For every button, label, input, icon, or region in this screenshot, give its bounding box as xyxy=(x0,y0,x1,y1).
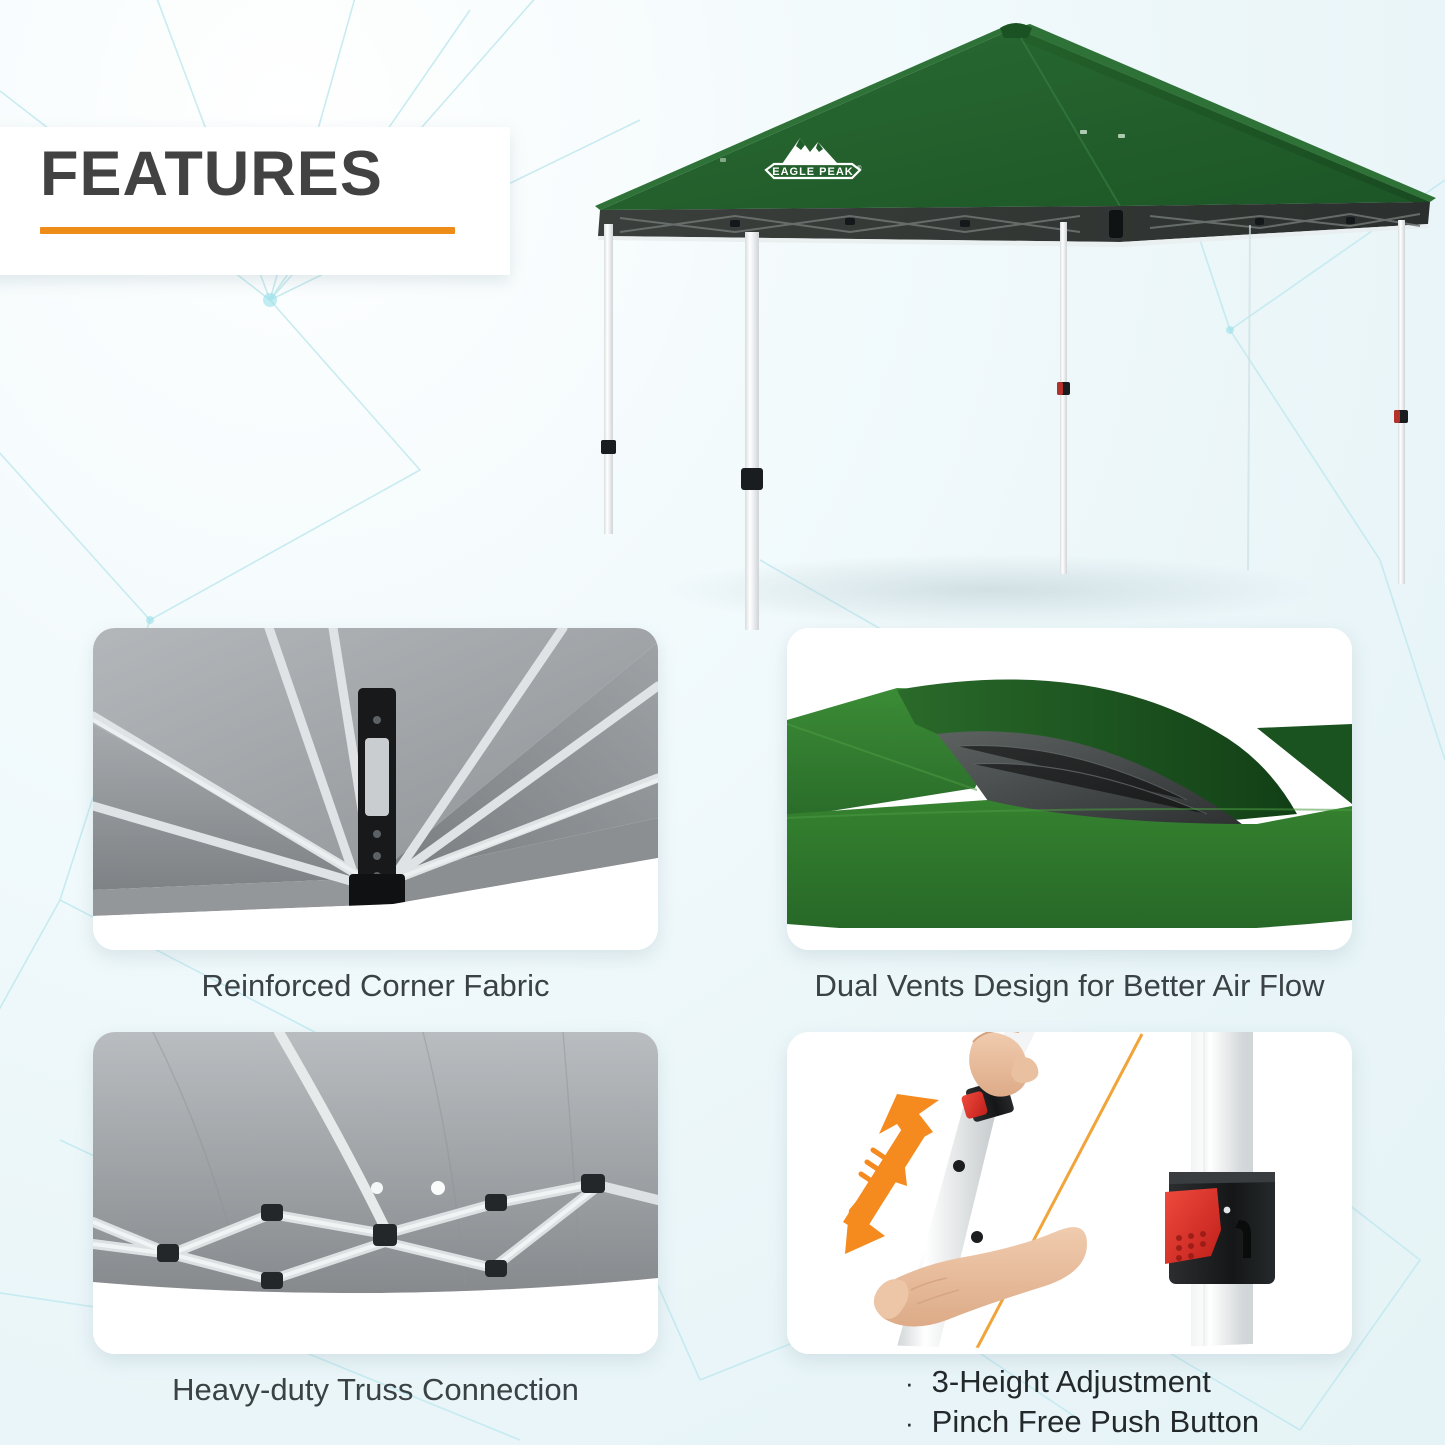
height-adjustment-image xyxy=(787,1032,1352,1354)
bullet-row: · Pinch Free Push Button xyxy=(905,1402,1259,1442)
svg-text:®: ® xyxy=(857,165,862,172)
bullet-row: · 3-Height Adjustment xyxy=(905,1362,1259,1402)
title-underline xyxy=(40,227,455,234)
caption-reinforced-corner: Reinforced Corner Fabric xyxy=(93,968,658,1004)
bullet-label: 3-Height Adjustment xyxy=(932,1362,1211,1402)
svg-text:EAGLE PEAK: EAGLE PEAK xyxy=(772,166,854,178)
hero-canopy-image: EAGLE PEAK ® xyxy=(560,10,1440,630)
leg-front-center xyxy=(745,232,759,630)
feature-card-reinforced-corner xyxy=(93,628,658,950)
reinforced-corner-image xyxy=(93,628,658,950)
bullet-marker-icon: · xyxy=(905,1370,914,1396)
leg-front-left xyxy=(604,224,613,534)
page-title: FEATURES xyxy=(40,143,383,206)
feature-card-height-adjustment xyxy=(787,1032,1352,1354)
leg-rear-right xyxy=(1398,220,1405,584)
feature-card-dual-vents xyxy=(787,628,1352,950)
feature-card-heavy-duty-truss xyxy=(93,1032,658,1354)
bullet-marker-icon: · xyxy=(905,1410,914,1436)
infographic-root: FEATURES xyxy=(0,0,1445,1445)
bullet-label: Pinch Free Push Button xyxy=(932,1402,1259,1442)
leg-rear-center xyxy=(1060,222,1067,574)
caption-dual-vents: Dual Vents Design for Better Air Flow xyxy=(787,968,1352,1004)
height-adjustment-bullets: · 3-Height Adjustment · Pinch Free Push … xyxy=(905,1362,1259,1441)
heavy-duty-truss-image xyxy=(93,1032,658,1354)
caption-heavy-duty-truss: Heavy-duty Truss Connection xyxy=(93,1372,658,1408)
dual-vents-image xyxy=(787,628,1352,950)
features-header-card: FEATURES xyxy=(0,127,510,275)
canopy-roof xyxy=(595,23,1436,210)
